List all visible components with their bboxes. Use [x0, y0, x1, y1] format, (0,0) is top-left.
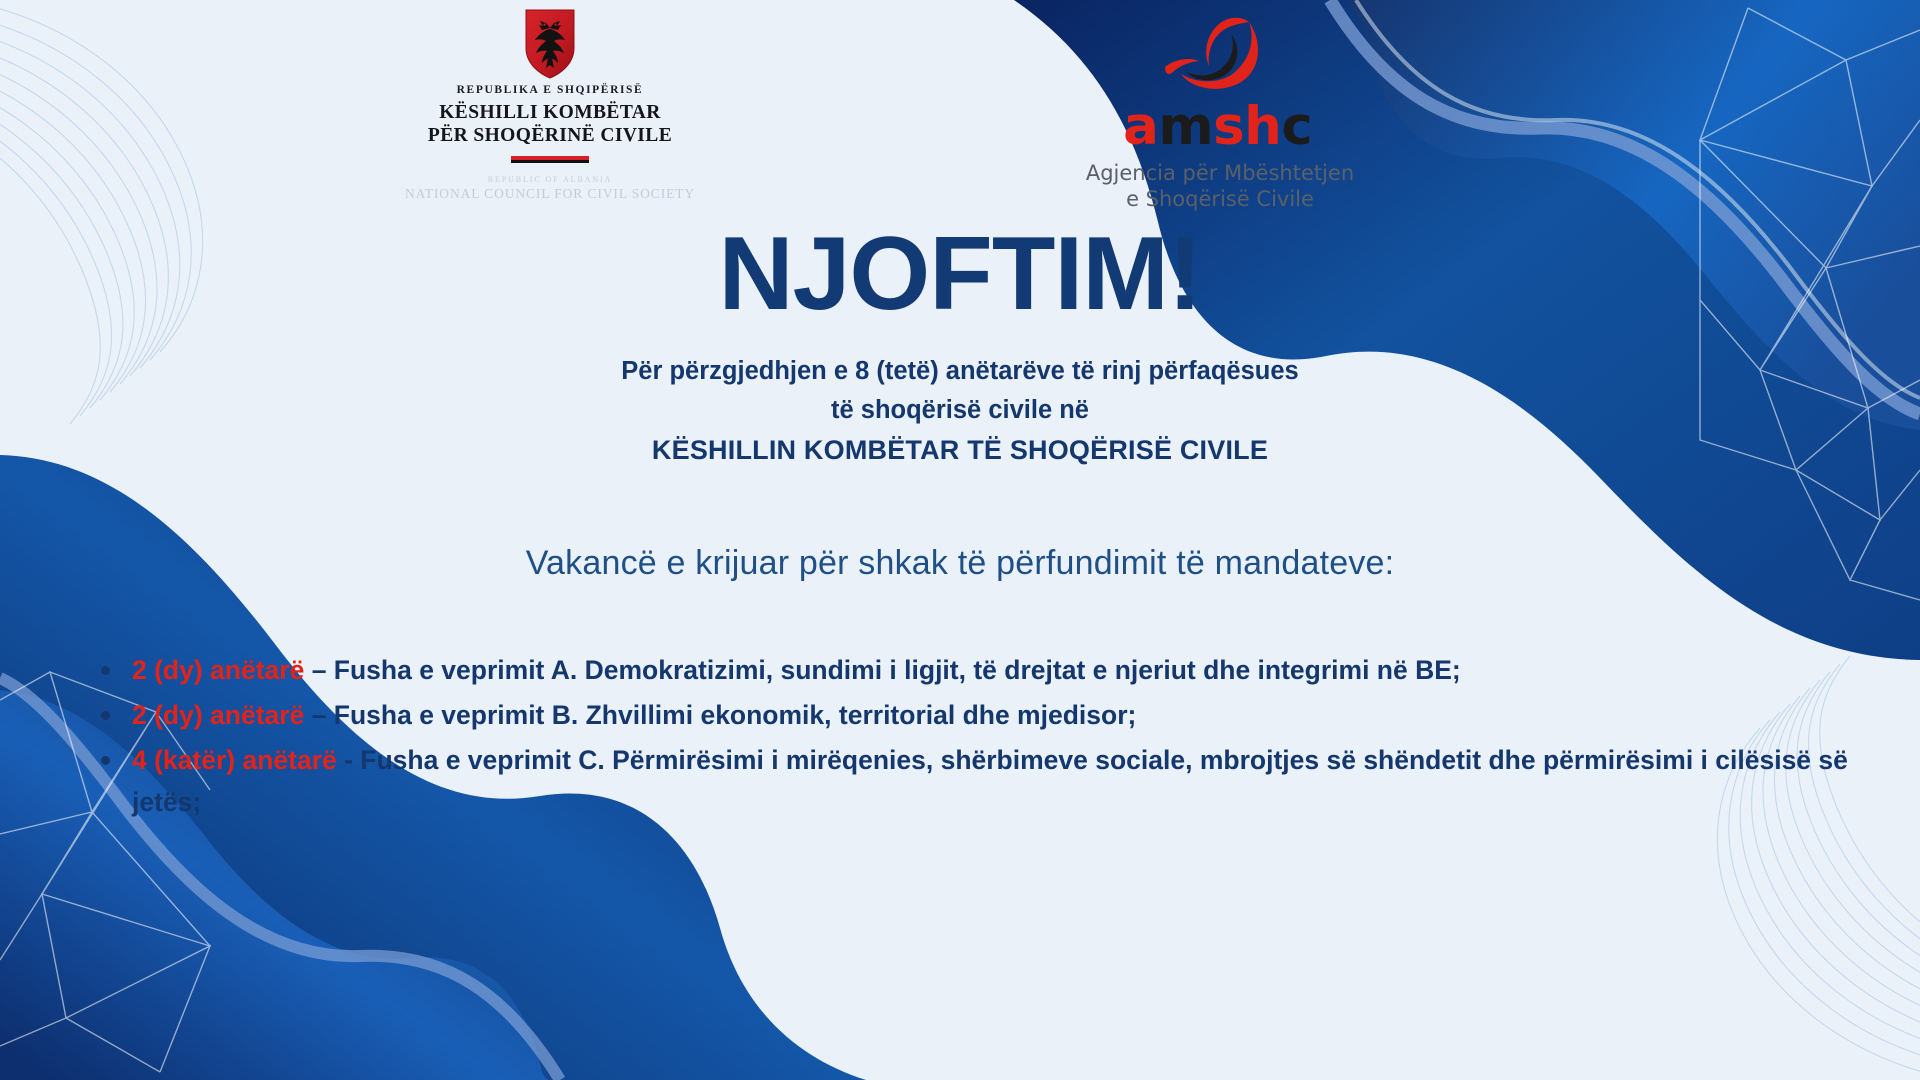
list-item-text: - Fusha e veprimit C. Përmirësimi i mirë… — [132, 745, 1848, 817]
list-item-text: – Fusha e veprimit A. Demokratizimi, sun… — [304, 655, 1460, 685]
list-item: 2 (dy) anëtarë – Fusha e veprimit A. Dem… — [95, 650, 1855, 692]
bullet-dot-icon — [101, 756, 110, 765]
poster-content: NJOFTIM! Për përzgjedhjen e 8 (tetë) anë… — [0, 0, 1920, 1080]
list-item-count: 4 (katër) anëtarë — [132, 745, 337, 775]
list-item-text: – Fusha e veprimit B. Zhvillimi ekonomik… — [304, 700, 1136, 730]
poster-canvas: REPUBLIKA E SHQIPËRISË KËSHILLI KOMBËTAR… — [0, 0, 1920, 1080]
subtitle-line-3: KËSHILLIN KOMBËTAR TË SHOQËRISË CIVILE — [0, 430, 1920, 471]
list-item-count: 2 (dy) anëtarë — [132, 655, 304, 685]
list-item-count: 2 (dy) anëtarë — [132, 700, 304, 730]
list-item: 4 (katër) anëtarë - Fusha e veprimit C. … — [95, 740, 1855, 824]
subtitle-block: Për përzgjedhjen e 8 (tetë) anëtarëve të… — [0, 352, 1920, 471]
section-label: Vakancë e krijuar për shkak të përfundim… — [0, 544, 1920, 583]
subtitle-line-2: të shoqërisë civile në — [0, 391, 1920, 430]
page-title: NJOFTIM! — [0, 222, 1920, 326]
bullet-dot-icon — [101, 711, 110, 720]
vacancy-list: 2 (dy) anëtarë – Fusha e veprimit A. Dem… — [95, 650, 1855, 826]
bullet-dot-icon — [101, 666, 110, 675]
subtitle-line-1: Për përzgjedhjen e 8 (tetë) anëtarëve të… — [0, 352, 1920, 391]
list-item: 2 (dy) anëtarë – Fusha e veprimit B. Zhv… — [95, 695, 1855, 737]
